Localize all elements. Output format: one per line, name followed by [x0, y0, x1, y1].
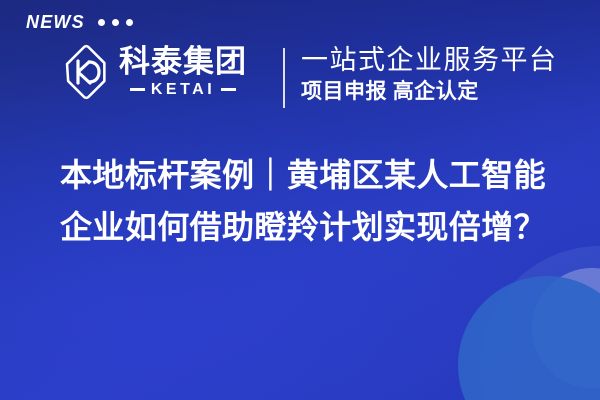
news-banner: NEWS 科泰集团 KETAI: [0, 0, 600, 400]
dot-icon: [126, 19, 133, 26]
brand-name-cn: 科泰集团: [119, 46, 247, 79]
headline: 本地标杆案例｜黄埔区某人工智能 企业如何借助瞪羚计划实现倍增？: [60, 150, 560, 254]
slogan-block: 一站式企业服务平台 项目申报 高企认定: [301, 45, 558, 103]
brand-name-en-row: KETAI: [130, 82, 236, 98]
eyebrow-dots-icon: [98, 19, 133, 26]
rule-right-icon: [221, 88, 236, 91]
vertical-divider: [283, 48, 285, 108]
slogan-main: 一站式企业服务平台: [301, 45, 558, 75]
dot-icon: [98, 19, 105, 26]
brand-name-en: KETAI: [151, 82, 215, 98]
rule-left-icon: [130, 88, 145, 91]
headline-line-1: 本地标杆案例｜黄埔区某人工智能: [60, 150, 560, 202]
dot-icon: [112, 19, 119, 26]
eyebrow: NEWS: [26, 13, 133, 31]
ketai-diamond-monogram-icon: [56, 44, 112, 100]
brand-wordmark: 科泰集团 KETAI: [119, 46, 247, 98]
headline-line-2: 企业如何借助瞪羚计划实现倍增？: [60, 202, 560, 254]
slogan-sub: 项目申报 高企认定: [301, 80, 558, 103]
brand-logo: 科泰集团 KETAI: [56, 44, 247, 100]
eyebrow-label: NEWS: [26, 13, 85, 31]
